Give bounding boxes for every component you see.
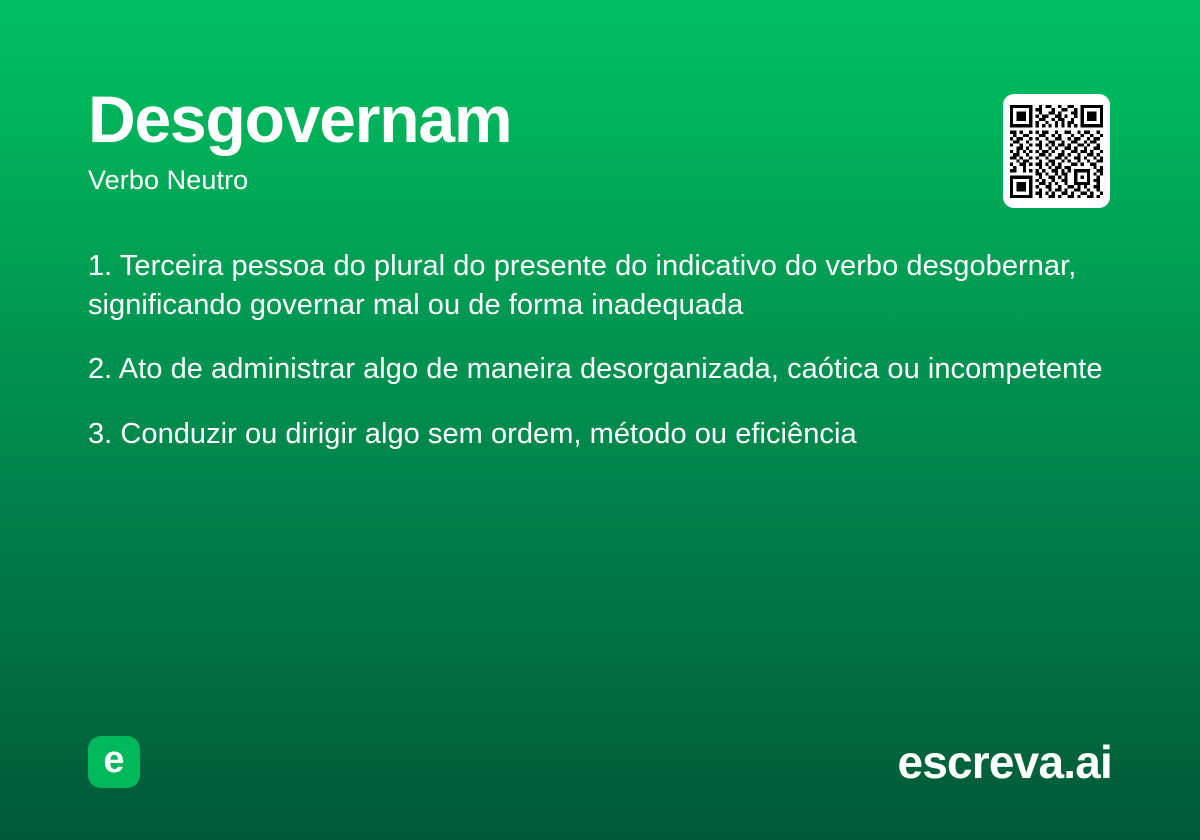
card-footer: e escreva.ai	[88, 736, 1112, 788]
brand-logo-icon: e	[88, 736, 140, 788]
definition-item: 2. Ato de administrar algo de maneira de…	[88, 350, 1114, 389]
word-class-label: Verbo Neutro	[88, 167, 1112, 194]
card-header: Desgovernam Verbo Neutro	[88, 86, 1112, 194]
qr-code[interactable]	[1003, 94, 1110, 208]
page-title: Desgovernam	[88, 86, 1112, 152]
definition-item: 3. Conduzir ou dirigir algo sem ordem, m…	[88, 415, 1114, 454]
brand-logo-letter: e	[103, 741, 124, 779]
definition-card: Desgovernam Verbo Neutro	[0, 0, 1200, 840]
brand-name: escreva.ai	[897, 739, 1112, 785]
qr-code-icon	[1010, 105, 1103, 198]
definition-item: 1. Terceira pessoa do plural do presente…	[88, 247, 1114, 324]
definition-list: 1. Terceira pessoa do plural do presente…	[88, 247, 1114, 453]
